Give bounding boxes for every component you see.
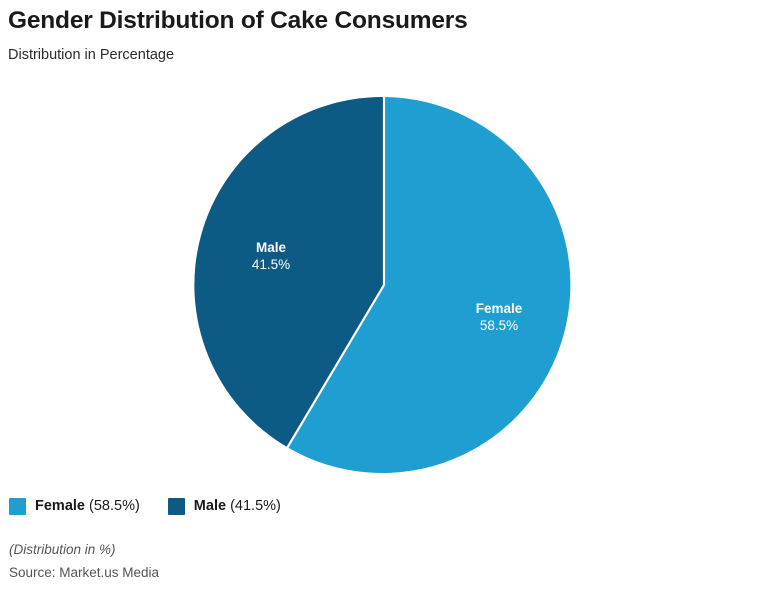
pie-chart-figure: Gender Distribution of Cake Consumers Di… [0,0,768,589]
chart-subtitle: Distribution in Percentage [8,45,760,65]
legend-label-female: Female (58.5%) [35,498,140,515]
legend-name-male: Male [194,498,226,514]
pie-svg: Female 58.5% Male 41.5% [0,88,768,483]
legend-name-female: Female [35,498,85,514]
legend-swatch-female-icon [9,498,26,515]
slice-label-female-name: Female [476,301,523,316]
legend-label-male: Male (41.5%) [194,498,281,515]
legend-item-female[interactable]: Female (58.5%) [9,498,140,515]
chart-legend: Female (58.5%) Male (41.5%) [9,498,281,515]
legend-item-male[interactable]: Male (41.5%) [168,498,281,515]
footer-note: (Distribution in %) [9,540,159,559]
plot-area: Female 58.5% Male 41.5% [0,88,768,483]
chart-header: Gender Distribution of Cake Consumers Di… [8,6,760,65]
legend-swatch-male-icon [168,498,185,515]
slice-label-male-name: Male [256,240,287,255]
legend-value-female: (58.5%) [89,498,140,514]
slice-label-female-value: 58.5% [480,318,518,333]
legend-value-male: (41.5%) [230,498,281,514]
footer-source: Source: Market.us Media [9,563,159,582]
chart-footer: (Distribution in %) Source: Market.us Me… [9,540,159,582]
slice-label-male-value: 41.5% [252,257,290,272]
chart-title: Gender Distribution of Cake Consumers [8,6,760,36]
